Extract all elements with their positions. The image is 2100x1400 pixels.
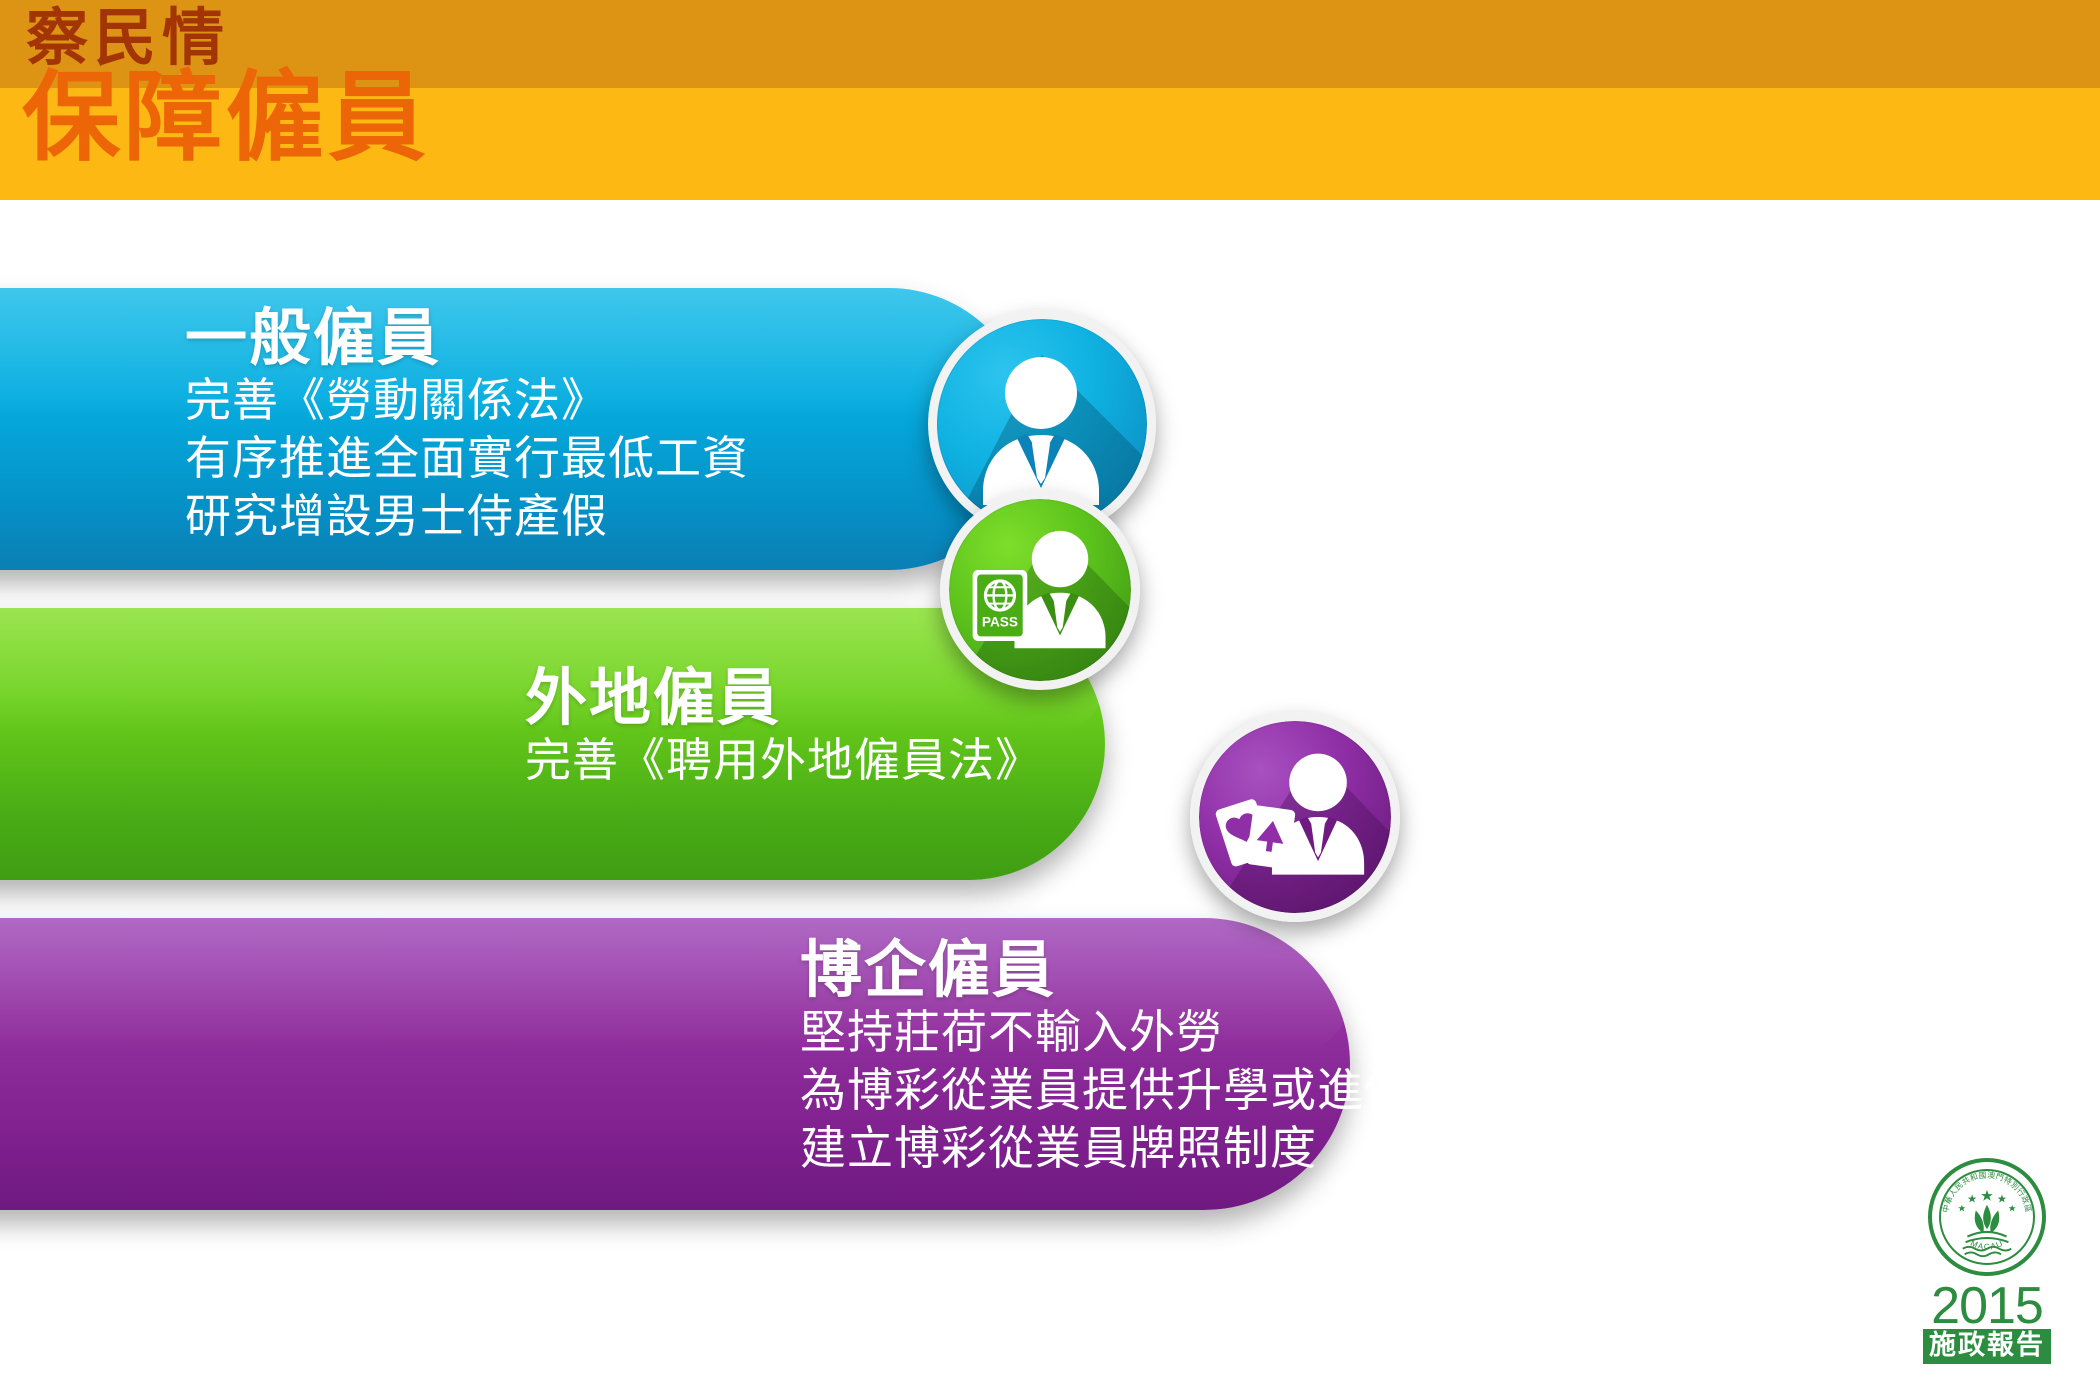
medallion-non-resident-employees[interactable]: PASS	[940, 490, 1140, 690]
bar-line: 為博彩從業員提供升學或進修機會	[800, 1062, 1505, 1120]
medallion-ring	[940, 490, 1140, 690]
section-bar-gaming-employees[interactable]: 博企僱員 堅持莊荷不輸入外勞 為博彩從業員提供升學或進修機會 建立博彩從業員牌照…	[0, 918, 1350, 1210]
medallion-gaming-employees[interactable]	[1190, 712, 1400, 922]
bar-line: 有序推進全面實行最低工資	[185, 430, 749, 488]
bar-line: 研究增設男士侍產假	[185, 488, 749, 546]
bar-text-block: 博企僱員 堅持莊荷不輸入外勞 為博彩從業員提供升學或進修機會 建立博彩從業員牌照…	[800, 938, 1505, 1178]
bar-line: 完善《聘用外地僱員法》	[525, 732, 1042, 790]
bar-title: 一般僱員	[185, 306, 749, 372]
bar-line: 建立博彩從業員牌照制度	[800, 1120, 1505, 1178]
footer-logo: 中華人民共和國澳門特別行政區 MACAU	[1912, 1158, 2062, 1364]
emblem-artwork: 中華人民共和國澳門特別行政區 MACAU	[1932, 1162, 2042, 1272]
section-bar-general-employees[interactable]: 一般僱員 完善《勞動關係法》 有序推進全面實行最低工資 研究增設男士侍產假	[0, 288, 1030, 570]
bar-line: 完善《勞動關係法》	[185, 372, 749, 430]
slide-canvas: 察民情 保障僱員 一般僱員 完善《勞動關係法》 有序推進全面實行最低工資 研究增…	[0, 0, 2100, 1400]
section-bar-non-resident-employees[interactable]: 外地僱員 完善《聘用外地僱員法》	[0, 608, 1105, 880]
macau-sar-emblem-icon: 中華人民共和國澳門特別行政區 MACAU	[1928, 1158, 2046, 1276]
bar-line: 堅持莊荷不輸入外勞	[800, 1004, 1505, 1062]
report-year: 2015	[1912, 1280, 2062, 1332]
report-label-wrap: 施政報告	[1912, 1326, 2062, 1364]
bar-text-block: 一般僱員 完善《勞動關係法》 有序推進全面實行最低工資 研究增設男士侍產假	[185, 306, 749, 546]
header-eyebrow: 察民情	[26, 8, 230, 70]
report-label: 施政報告	[1923, 1329, 2051, 1364]
bar-text-block: 外地僱員 完善《聘用外地僱員法》	[525, 666, 1042, 790]
medallion-ring	[1190, 712, 1400, 922]
bar-title: 博企僱員	[800, 938, 1505, 1004]
page-title: 保障僱員	[22, 68, 430, 166]
